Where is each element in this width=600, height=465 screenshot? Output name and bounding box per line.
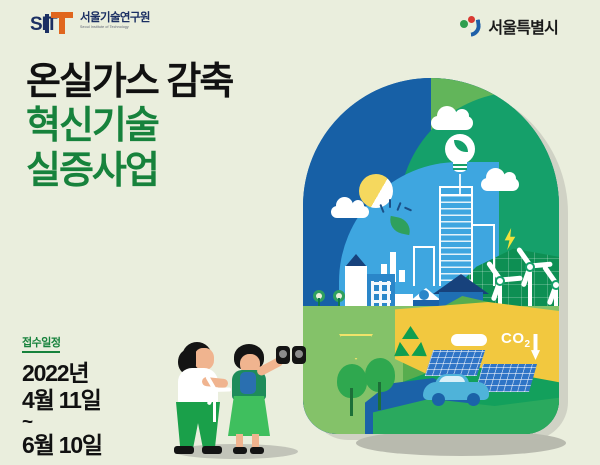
cloud-icon — [331, 206, 369, 218]
tree-icon — [365, 358, 395, 410]
office-tower-icon — [439, 194, 473, 286]
seoul-emblem-icon — [459, 15, 483, 37]
person-right — [222, 336, 308, 454]
cloud-icon — [451, 334, 487, 346]
tree-icon — [337, 364, 367, 416]
poster-root: SIT 서울기술연구원 Seoul Institute of Technolog… — [0, 0, 600, 465]
recycling-icon — [391, 326, 431, 364]
people-illustration — [168, 336, 308, 465]
sit-mark-icon: SIT — [30, 11, 76, 35]
schedule-label: 접수일정 — [22, 334, 60, 353]
binoculars-icon — [276, 346, 306, 364]
schedule-year: 2022년 — [22, 360, 102, 387]
institute-logo: SIT 서울기술연구원 Seoul Institute of Technolog… — [30, 11, 150, 35]
institute-name-block: 서울기술연구원 Seoul Institute of Technology — [80, 11, 150, 29]
handheld-turbine-icon — [204, 380, 226, 422]
co2-label: CO2 — [501, 330, 531, 350]
institute-name-english: Seoul Institute of Technology — [80, 25, 150, 29]
schedule-end-date: 6월 10일 — [22, 432, 102, 459]
lightbulb-base-line — [453, 164, 467, 166]
city-name: 서울특별시 — [488, 14, 558, 38]
sit-letter-i — [45, 14, 49, 33]
title-line-2: 혁신기술 — [26, 104, 232, 148]
seoul-green-dot — [460, 20, 468, 28]
institute-name-korean: 서울기술연구원 — [80, 12, 150, 24]
title-line-1: 온실가스 감축 — [26, 60, 232, 104]
spark-line-icon — [389, 199, 391, 208]
page-title: 온실가스 감축 혁신기술 실증사업 — [26, 60, 232, 193]
schedule-separator: ~ — [22, 414, 102, 432]
schedule-block: 접수일정 2022년 4월 11일 ~ 6월 10일 — [22, 333, 102, 459]
lightbulb-base-icon — [453, 160, 467, 172]
city-logo: 서울특별시 — [459, 14, 558, 38]
keyhole-shape: CO2 — [303, 78, 559, 434]
seoul-blue-swoosh — [469, 19, 482, 36]
office-tower-low-icon — [413, 246, 435, 286]
cloud-icon — [481, 178, 519, 191]
schedule-start-date: 4월 11일 — [22, 387, 102, 414]
solar-panel-icon — [425, 350, 485, 376]
house-dome-icon — [419, 290, 429, 300]
electric-car-icon — [423, 374, 489, 406]
sit-letter-t-stem — [59, 12, 65, 34]
lightbulb-base-line — [453, 168, 467, 170]
cloud-icon — [431, 116, 473, 130]
sun-icon — [359, 174, 393, 208]
title-line-3: 실증사업 — [26, 149, 232, 193]
